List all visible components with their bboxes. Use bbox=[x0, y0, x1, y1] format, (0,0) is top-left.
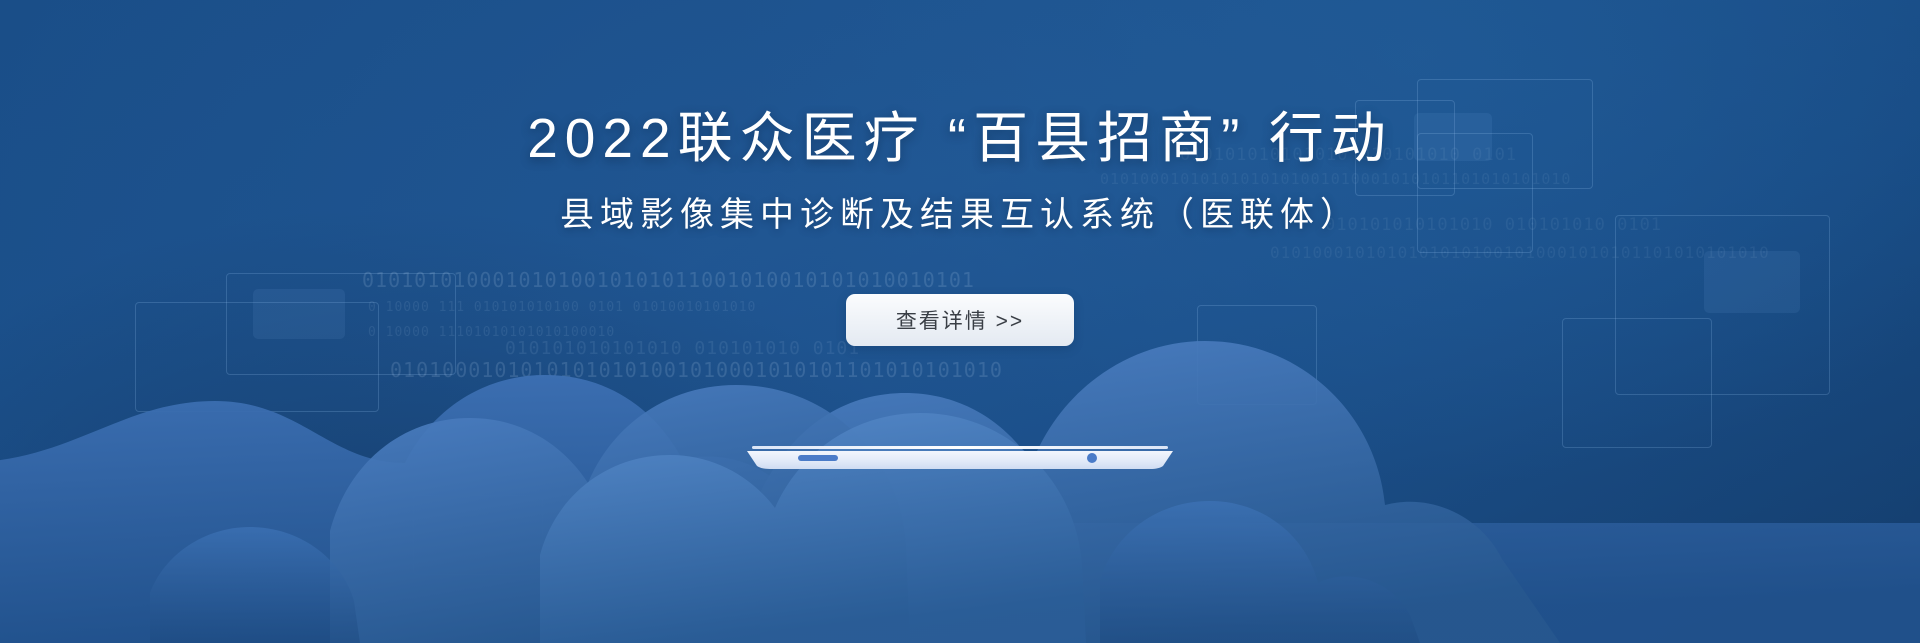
cta-container: 查看详情 >> bbox=[846, 294, 1074, 346]
device-indicator-dot bbox=[1087, 453, 1097, 463]
banner-content: 2022联众医疗 “百县招商” 行动 县域影像集中诊断及结果互认系统（医联体） … bbox=[0, 0, 1920, 643]
device-speaker-slot bbox=[798, 455, 838, 461]
view-details-button[interactable]: 查看详情 >> bbox=[846, 294, 1074, 346]
banner-title: 2022联众医疗 “百县招商” 行动 bbox=[527, 108, 1393, 169]
promo-banner: 0101010100010101001010101100101001010101… bbox=[0, 0, 1920, 643]
device-base-illustration bbox=[744, 444, 1176, 472]
device-top-edge bbox=[752, 446, 1168, 449]
banner-subtitle: 县域影像集中诊断及结果互认系统（医联体） bbox=[560, 197, 1360, 234]
